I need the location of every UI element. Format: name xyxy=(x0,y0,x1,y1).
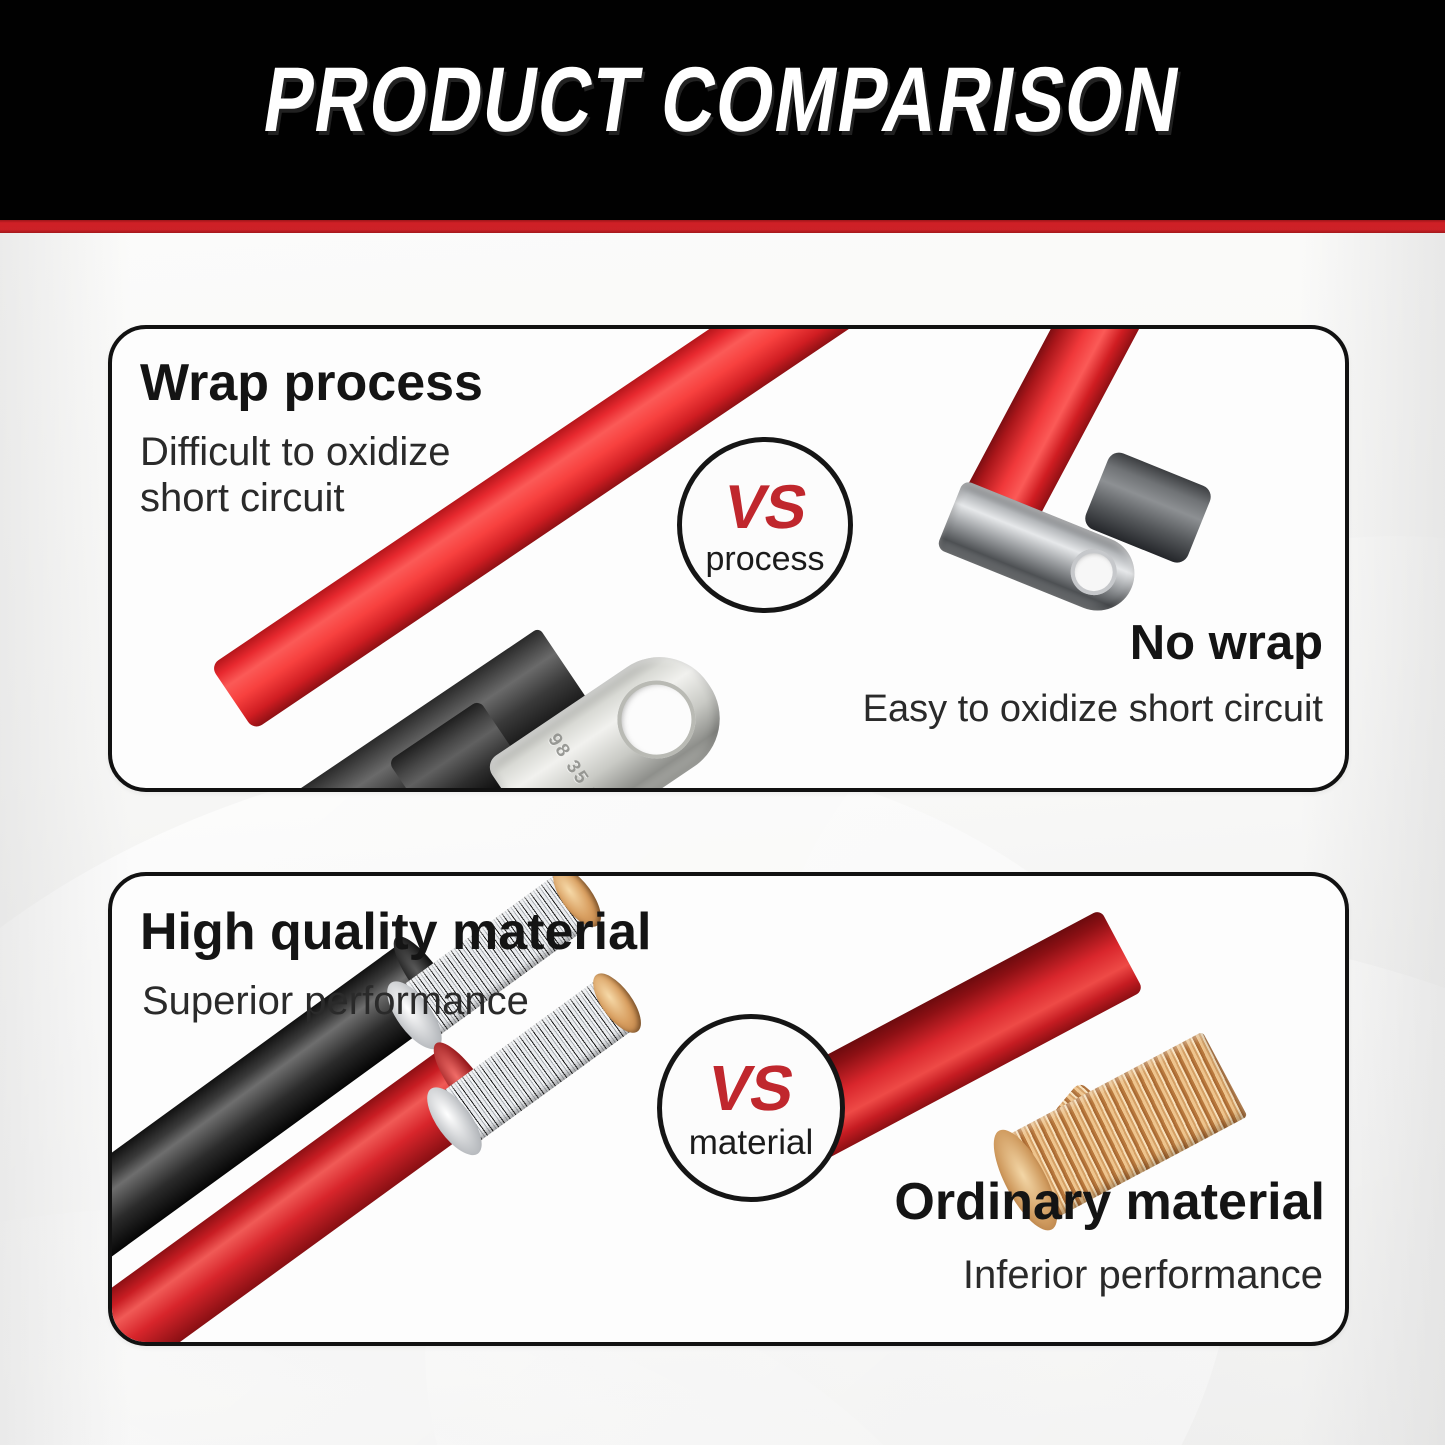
lug-embossed-marking: 98 35 10 xyxy=(543,730,612,792)
no-wrap-subtitle: Easy to oxidize short circuit xyxy=(863,687,1323,731)
header-band: PRODUCT COMPARISON xyxy=(0,0,1445,220)
vs-badge-material-word: VS xyxy=(704,1060,798,1118)
wrap-process-subtitle: Difficult to oxidize short circuit xyxy=(140,429,560,522)
page-title: PRODUCT COMPARISON xyxy=(137,54,1307,146)
vs-badge-process-word: VS xyxy=(720,480,811,536)
high-quality-material-subtitle: Superior performance xyxy=(142,978,529,1024)
header-accent-stripe xyxy=(0,220,1445,233)
red-cable-copper-core xyxy=(584,966,649,1040)
unwrapped-ring-terminal-lug xyxy=(936,480,1145,622)
red-cable-jacket-tip xyxy=(424,1035,506,1132)
bare-lug-bolt-hole xyxy=(1064,542,1124,602)
vs-badge-material-label: material xyxy=(689,1125,813,1160)
red-cable-jacket xyxy=(108,1044,497,1346)
red-cable-tin-collar xyxy=(417,1079,492,1164)
infographic-canvas: PRODUCT COMPARISON 98 35 10 Wrap process… xyxy=(0,0,1445,1445)
wrap-process-subtitle-line-1: Difficult to oxidize xyxy=(140,429,560,475)
red-cable xyxy=(108,1044,497,1346)
wrapped-ring-terminal-lug: 98 35 10 xyxy=(484,635,742,792)
lug-bolt-hole xyxy=(602,665,710,773)
vs-badge-process: VS process xyxy=(677,437,853,613)
vs-badge-process-label: process xyxy=(705,542,824,576)
high-quality-material-title: High quality material xyxy=(140,906,651,959)
ordinary-material-title: Ordinary material xyxy=(894,1176,1325,1229)
red-cable-insulation-right xyxy=(947,325,1157,561)
no-wrap-title: No wrap xyxy=(1130,619,1323,669)
wrap-process-subtitle-line-2: short circuit xyxy=(140,475,560,521)
bare-crimp-barrel xyxy=(1082,449,1215,566)
ordinary-material-subtitle: Inferior performance xyxy=(963,1252,1323,1298)
wrap-process-title: Wrap process xyxy=(140,357,483,410)
black-heatshrink-sleeve xyxy=(261,628,590,792)
heatshrink-neck xyxy=(388,700,527,792)
vs-badge-material: VS material xyxy=(657,1014,845,1202)
